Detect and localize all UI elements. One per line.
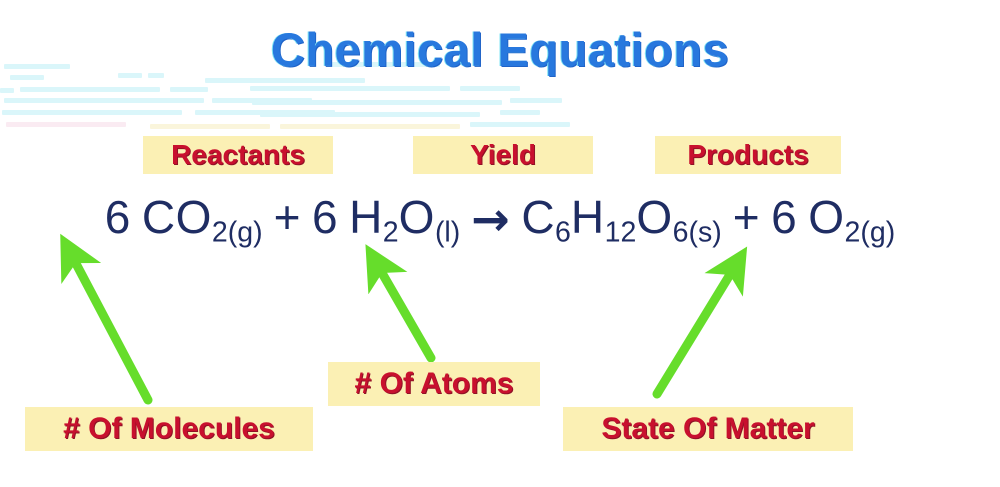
label-state-of-matter: State Of Matter [563, 407, 853, 451]
coefficient-co2: 6 [105, 191, 131, 243]
green-arrow-icon-molecules [72, 256, 148, 400]
formula-o2-sub: 2 [845, 217, 861, 249]
formula-glucose-c-sub: 6 [555, 217, 571, 249]
formula-o2-base: O [808, 191, 844, 243]
formula-glucose-c: C [521, 191, 555, 243]
formula-h2o-sub: 2 [383, 217, 399, 249]
formula-glucose-o-sub: 6 [673, 217, 689, 249]
label-number-of-atoms: # Of Atoms [328, 362, 540, 406]
formula-co2-base: CO [142, 191, 212, 243]
formula-glucose-o: O [636, 191, 672, 243]
formula-o2-state: (g) [860, 217, 895, 249]
page-title: Chemical Equations [0, 22, 1000, 77]
label-products: Products [655, 136, 841, 174]
formula-glucose-h: H [571, 191, 605, 243]
green-arrow-icon-atoms [378, 266, 431, 358]
slide-canvas: Chemical Equations Reactants Yield Produ… [0, 0, 1000, 487]
label-reactants: Reactants [143, 136, 333, 174]
formula-glucose-state: (s) [689, 217, 722, 249]
coefficient-h2o: 6 [312, 191, 338, 243]
green-arrow-icon-state [657, 268, 734, 394]
plus-sign-1: + [274, 191, 301, 243]
formula-co2-sub: 2 [212, 217, 228, 249]
label-number-of-molecules: # Of Molecules [25, 407, 313, 451]
label-yield: Yield [413, 136, 593, 174]
formula-co2-state: (g) [228, 217, 263, 249]
formula-h2o-h: H [349, 191, 383, 243]
formula-glucose-h-sub: 12 [605, 217, 637, 249]
chemical-equation: 6CO2(g)+6H2O(l)→C6H12O6(s)+6O2(g) [0, 190, 1000, 250]
coefficient-o2: 6 [771, 191, 797, 243]
right-arrow-icon: → [471, 192, 510, 246]
plus-sign-2: + [733, 191, 760, 243]
formula-h2o-state: (l) [435, 217, 460, 249]
formula-h2o-o: O [399, 191, 435, 243]
